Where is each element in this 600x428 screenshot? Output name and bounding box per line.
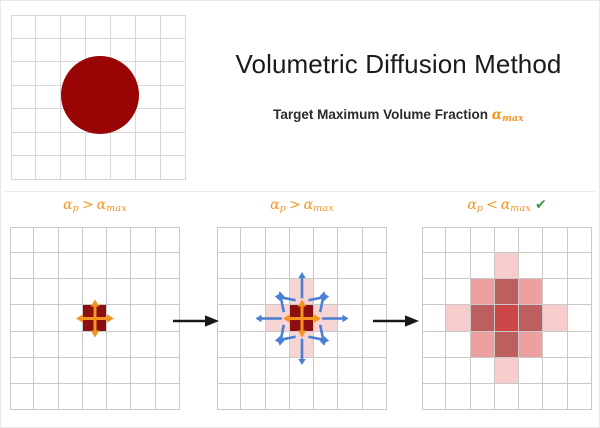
page-subtitle: Target Maximum Volume Fraction αmax (206, 107, 591, 124)
grid-cell-filled (471, 332, 495, 358)
grid-cell (422, 253, 446, 279)
grid-cell-filled (519, 279, 543, 305)
grid-cell (61, 15, 86, 39)
grid-cell (86, 156, 111, 180)
grid-cell (161, 109, 186, 133)
grid-cell (10, 358, 34, 384)
panel-3-label: αp<αmax✔ (417, 197, 597, 214)
alpha-glyph: α (270, 197, 279, 213)
alpha-glyph: α (467, 197, 476, 213)
grid-cell (568, 358, 592, 384)
relation-operator: > (286, 197, 304, 213)
grid-cell (11, 39, 36, 63)
grid-cell (10, 305, 34, 331)
grid-cell (446, 332, 470, 358)
grid-cell (107, 279, 131, 305)
grid-cell (519, 358, 543, 384)
grid-cell (446, 358, 470, 384)
grid-cell-filled (495, 358, 519, 384)
grid-cell (422, 384, 446, 410)
grid-cell (290, 227, 314, 253)
grid-cell (10, 227, 34, 253)
grid-cell (266, 358, 290, 384)
grid-cell-filled (519, 332, 543, 358)
checkmark-icon: ✔ (531, 197, 547, 213)
grid-cell (83, 332, 107, 358)
grid-cell (34, 279, 58, 305)
grid-cell (107, 332, 131, 358)
grid-cell (338, 227, 362, 253)
grid-cell (338, 279, 362, 305)
panel-3-grid (422, 227, 592, 410)
grid-cell (11, 62, 36, 86)
alpha-subscript-max: max (313, 203, 334, 214)
grid-cell (161, 133, 186, 157)
grid-cell (11, 133, 36, 157)
grid-cell (11, 86, 36, 110)
relation-operator: > (79, 197, 97, 213)
grid-cell (136, 156, 161, 180)
grid-cell (338, 384, 362, 410)
grid-cell (363, 253, 387, 279)
grid-cell-filled (543, 305, 567, 331)
alpha-glyph: α (97, 197, 106, 213)
grid-cell-filled (495, 305, 519, 331)
grid-cell (156, 384, 180, 410)
grid-cell (363, 358, 387, 384)
grid-cell (568, 227, 592, 253)
grid-cell (34, 384, 58, 410)
grid-cell (161, 86, 186, 110)
grid-cell (59, 332, 83, 358)
grid-cell (10, 384, 34, 410)
grid-cell (519, 227, 543, 253)
grid-cell (217, 279, 241, 305)
grid-cell (34, 305, 58, 331)
panel-step-3: αp<αmax✔ (417, 197, 597, 425)
grid-cell (34, 332, 58, 358)
grid-cell (11, 15, 36, 39)
figure-root: Volumetric Diffusion Method Target Maxim… (0, 0, 600, 428)
grid-cell (111, 133, 136, 157)
grid-cell (363, 384, 387, 410)
grid-cell (136, 133, 161, 157)
grid-cell (543, 358, 567, 384)
grid-cell (10, 332, 34, 358)
grid-cell (422, 279, 446, 305)
grid-cell (136, 39, 161, 63)
grid-cell (10, 279, 34, 305)
overview-section: Volumetric Diffusion Method Target Maxim… (1, 1, 599, 191)
alpha-subscript-max: max (510, 203, 531, 214)
grid-cell-filled (266, 305, 290, 331)
grid-cell (446, 227, 470, 253)
grid-cell (290, 253, 314, 279)
grid-cell (36, 156, 61, 180)
grid-cell-filled (446, 305, 470, 331)
grid-cell-filled (290, 305, 314, 331)
grid-cell (156, 358, 180, 384)
grid-cell (156, 332, 180, 358)
grid-cell (422, 332, 446, 358)
grid-cell (107, 227, 131, 253)
grid-cell (59, 384, 83, 410)
grid-cell (36, 86, 61, 110)
grid-cell (314, 332, 338, 358)
alpha-glyph: α (492, 107, 502, 123)
grid-cell (217, 253, 241, 279)
subtitle-alpha-max: αmax (492, 107, 524, 123)
grid-cell (36, 133, 61, 157)
grid-cell (111, 15, 136, 39)
grid-cell (34, 358, 58, 384)
connector-arrow-1-icon (173, 314, 221, 328)
alpha-glyph: α (63, 197, 72, 213)
grid-cell (241, 227, 265, 253)
alpha-subscript-p: p (73, 203, 79, 214)
panel-2-grid (217, 227, 387, 410)
grid-cell (136, 86, 161, 110)
grid-cell (241, 253, 265, 279)
grid-cell-filled (495, 332, 519, 358)
grid-cell (446, 253, 470, 279)
grid-cell (156, 253, 180, 279)
grid-cell (83, 384, 107, 410)
grid-cell (241, 384, 265, 410)
grid-cell (471, 253, 495, 279)
grid-cell (241, 279, 265, 305)
grid-cell (131, 227, 155, 253)
grid-cell (161, 39, 186, 63)
grid-cell (161, 156, 186, 180)
grid-cell (107, 253, 131, 279)
grid-cell (131, 332, 155, 358)
panel-1-label: αp>αmax (5, 197, 185, 214)
grid-cell (568, 332, 592, 358)
grid-cell-filled (471, 305, 495, 331)
grid-cell (363, 279, 387, 305)
grid-cell (11, 109, 36, 133)
grid-cell (266, 384, 290, 410)
grid-cell (338, 253, 362, 279)
grid-cell (36, 109, 61, 133)
grid-cell (136, 15, 161, 39)
grid-cell (86, 15, 111, 39)
grid-cell (290, 384, 314, 410)
grid-cell (290, 358, 314, 384)
grid-cell (59, 358, 83, 384)
grid-cell (495, 227, 519, 253)
grid-cell (266, 332, 290, 358)
grid-cell-filled (471, 279, 495, 305)
panel-step-1: αp>αmax (5, 197, 185, 425)
grid-cell (217, 332, 241, 358)
grid-cell (156, 227, 180, 253)
grid-cell (107, 305, 131, 331)
grid-cell (131, 253, 155, 279)
grid-cell (314, 358, 338, 384)
grid-cell (422, 305, 446, 331)
grid-cell (217, 384, 241, 410)
grid-cell (59, 227, 83, 253)
grid-cell (446, 279, 470, 305)
grid-cell (266, 279, 290, 305)
grid-cell (131, 305, 155, 331)
grid-cell (217, 358, 241, 384)
grid-cell (568, 253, 592, 279)
grid-cell (111, 156, 136, 180)
grid-cell (11, 156, 36, 180)
alpha-subscript-p: p (280, 203, 286, 214)
grid-cell (36, 62, 61, 86)
grid-cell (363, 332, 387, 358)
grid-cell (107, 384, 131, 410)
grid-cell (34, 227, 58, 253)
grid-cell-filled (290, 332, 314, 358)
connector-arrow-2-icon (373, 314, 421, 328)
grid-cell-filled (83, 305, 107, 331)
page-title: Volumetric Diffusion Method (206, 49, 591, 80)
grid-cell (519, 253, 543, 279)
grid-cell (86, 133, 111, 157)
grid-cell (519, 384, 543, 410)
grid-cell (471, 384, 495, 410)
grid-cell (136, 62, 161, 86)
grid-cell (36, 39, 61, 63)
grid-cell (568, 305, 592, 331)
relation-operator: < (483, 197, 501, 213)
grid-cell (61, 156, 86, 180)
grid-cell-filled (290, 279, 314, 305)
grid-cell (59, 253, 83, 279)
grid-cell (107, 358, 131, 384)
grid-cell (568, 279, 592, 305)
grid-cell (471, 358, 495, 384)
grid-cell (543, 253, 567, 279)
grid-cell-filled (314, 305, 338, 331)
grid-cell (363, 227, 387, 253)
grid-cell (241, 332, 265, 358)
grid-cell (422, 358, 446, 384)
grid-cell (59, 279, 83, 305)
grid-cell-filled (495, 279, 519, 305)
alpha-glyph: α (501, 197, 510, 213)
grid-cell (59, 305, 83, 331)
grid-cell (543, 384, 567, 410)
alpha-glyph: α (304, 197, 313, 213)
panel-2-label: αp>αmax (212, 197, 392, 214)
grid-cell (36, 15, 61, 39)
grid-cell (131, 279, 155, 305)
grid-cell (543, 227, 567, 253)
grid-cell (446, 384, 470, 410)
grid-cell (156, 279, 180, 305)
alpha-subscript: max (502, 113, 524, 124)
grid-cell (338, 358, 362, 384)
grid-cell (83, 253, 107, 279)
grid-cell (83, 358, 107, 384)
panel-1-grid (10, 227, 180, 410)
grid-cell (314, 253, 338, 279)
grid-cell (131, 358, 155, 384)
grid-cell (61, 133, 86, 157)
grid-cell (217, 227, 241, 253)
grid-cell (61, 39, 86, 63)
panel-step-2: αp>αmax (212, 197, 392, 425)
grid-cell (83, 227, 107, 253)
grid-cell (543, 279, 567, 305)
grid-cell (241, 305, 265, 331)
grid-cell (136, 109, 161, 133)
grid-cell-filled (495, 253, 519, 279)
grid-cell (543, 332, 567, 358)
grid-cell (266, 253, 290, 279)
grid-cell (422, 227, 446, 253)
grid-cell (471, 227, 495, 253)
grid-cell (314, 384, 338, 410)
grid-cell (161, 62, 186, 86)
overview-circle-shape (61, 56, 139, 134)
grid-cell (568, 384, 592, 410)
grid-cell (83, 279, 107, 305)
grid-cell (10, 253, 34, 279)
grid-cell (34, 253, 58, 279)
alpha-subscript-max: max (106, 203, 127, 214)
grid-cell (266, 227, 290, 253)
subtitle-text: Target Maximum Volume Fraction (273, 107, 488, 122)
grid-cell (314, 279, 338, 305)
grid-cell-filled (519, 305, 543, 331)
section-divider (5, 191, 595, 192)
grid-cell (314, 227, 338, 253)
grid-cell (495, 384, 519, 410)
grid-cell (338, 305, 362, 331)
grid-cell (131, 384, 155, 410)
grid-cell (338, 332, 362, 358)
grid-cell (241, 358, 265, 384)
grid-cell (161, 15, 186, 39)
